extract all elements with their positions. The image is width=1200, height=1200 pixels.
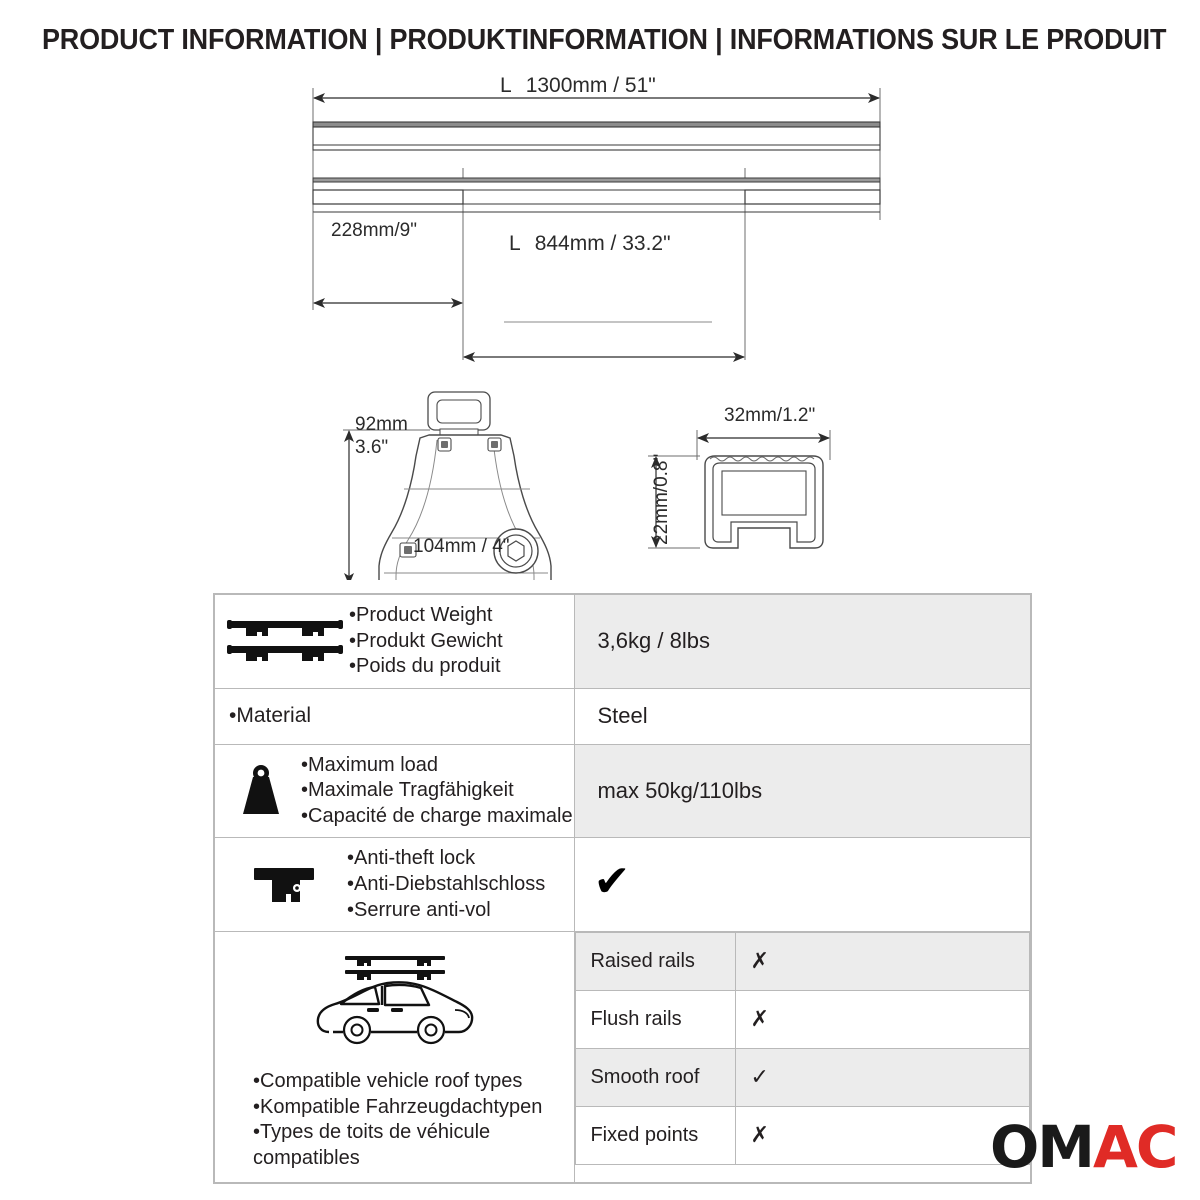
table-row-maximum-load: •Maximum load •Maximale Tragfähigkeit •C… [215,744,1031,838]
label-de: •Anti-Diebstahlschloss [347,872,545,898]
label-en: •Maximum load [301,753,573,779]
row-label-cell: •Anti-theft lock •Anti-Diebstahlschloss … [215,838,574,931]
table-row-anti-theft-lock: •Anti-theft lock •Anti-Diebstahlschloss … [215,838,1031,932]
logo-text-om: OM [990,1113,1093,1181]
label-fr: •Serrure anti-vol [347,898,545,924]
anti-theft-lock-icon [225,864,343,906]
value-maximum-load: max 50kg/110lbs [575,768,1030,814]
roof-types-labels: •Compatible vehicle roof types •Kompatib… [225,1069,564,1171]
table-row-material: •Material Steel [215,688,1031,744]
value-material: Steel [575,693,1030,739]
drawing-canvas [0,60,1200,580]
roof-type-support-mark: ✗ [736,991,1030,1049]
row-labels: •Anti-theft lock •Anti-Diebstahlschloss … [347,846,545,923]
roof-rack-bars-icon [225,615,345,667]
weight-icon [225,764,297,818]
label-en: •Material [229,703,570,730]
foot-height-in: 3.6" [355,436,408,459]
roof-types-subtable: Raised rails ✗ Flush rails ✗ Smooth roof… [575,932,1030,1165]
roof-type-row-flush-rails: Flush rails ✗ [576,991,1030,1049]
dimension-foot-height: 92mm 3.6" [355,413,408,459]
roof-type-support-mark: ✗ [736,933,1030,991]
value-anti-theft-lock: ✔ [575,856,630,914]
technical-drawings: L1300mm / 51" 228mm/9" L844mm / 33.2" 92… [0,60,1200,580]
dimension-foot-width: 104mm / 4" [413,536,510,558]
row-label-cell: •Product Weight •Produkt Gewicht •Poids … [215,595,574,688]
roof-type-row-smooth-roof: Smooth roof ✓ [576,1049,1030,1107]
label-de: •Produkt Gewicht [349,629,503,655]
car-with-roof-rack-icon [225,944,564,1059]
roof-type-support-mark: ✗ [736,1107,1030,1165]
specification-table: •Product Weight •Produkt Gewicht •Poids … [213,593,1032,1184]
label-de: •Maximale Tragfähigkeit [301,778,573,804]
roof-type-name: Flush rails [576,991,736,1049]
label-fr: •Types de toits de véhicule [253,1120,564,1146]
label-de: •Kompatible Fahrzeugdachtypen [253,1095,564,1121]
product-information-sheet: PRODUCT INFORMATION | PRODUKTINFORMATION… [0,0,1200,1200]
roof-type-name: Raised rails [576,933,736,991]
value-product-weight: 3,6kg / 8lbs [575,618,1030,664]
row-label-cell: •Maximum load •Maximale Tragfähigkeit •C… [215,745,574,838]
roof-type-row-fixed-points: Fixed points ✗ [576,1107,1030,1165]
label-en: •Anti-theft lock [347,846,545,872]
dimension-mount-span: L844mm / 33.2" [509,232,671,256]
page-title: PRODUCT INFORMATION | PRODUKTINFORMATION… [42,24,1158,57]
table-row-roof-types: •Compatible vehicle roof types •Kompatib… [215,932,1031,1182]
foot-height-mm: 92mm [355,413,408,436]
dimension-profile-height: 22mm/0.8" [651,454,673,545]
roof-type-support-mark: ✓ [736,1049,1030,1107]
table-row-product-weight: •Product Weight •Produkt Gewicht •Poids … [215,595,1031,689]
label-fr: •Capacité de charge maximale [301,804,573,830]
dimension-prefix-l: L [509,232,521,255]
roof-type-name: Fixed points [576,1107,736,1165]
label-en: •Product Weight [349,603,503,629]
dimension-end-offset: 228mm/9" [331,220,417,242]
row-labels: •Material [215,689,574,744]
label-fr-cont: compatibles [253,1146,564,1172]
roof-types-label-cell: •Compatible vehicle roof types •Kompatib… [215,932,574,1181]
label-fr: •Poids du produit [349,654,503,680]
dimension-prefix-l: L [500,74,512,97]
row-labels: •Maximum load •Maximale Tragfähigkeit •C… [301,753,573,830]
roof-type-row-raised-rails: Raised rails ✗ [576,933,1030,991]
row-labels: •Product Weight •Produkt Gewicht •Poids … [349,603,503,680]
roof-type-name: Smooth roof [576,1049,736,1107]
label-en: •Compatible vehicle roof types [253,1069,564,1095]
omac-logo: OMAC [990,1118,1176,1176]
logo-text-ac: AC [1093,1113,1176,1181]
dimension-profile-width: 32mm/1.2" [724,405,815,427]
dimension-bar-length: L1300mm / 51" [500,74,656,98]
